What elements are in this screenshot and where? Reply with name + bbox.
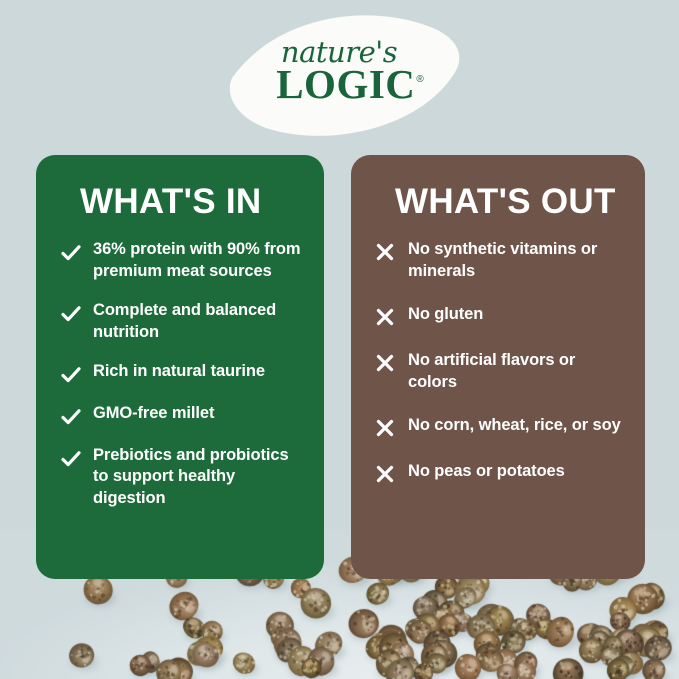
list-item-label: Prebiotics and probiotics to support hea… <box>93 445 306 511</box>
list-item: No corn, wheat, rice, or soy <box>368 415 627 440</box>
list-item: Prebiotics and probiotics to support hea… <box>53 445 306 511</box>
list-item-label: No corn, wheat, rice, or soy <box>408 415 621 437</box>
list-item: GMO-free millet <box>53 403 306 428</box>
whats-out-title: WHAT'S OUT <box>368 155 627 221</box>
check-icon <box>60 242 82 264</box>
list-item: No gluten <box>368 304 627 329</box>
list-item-label: Rich in natural taurine <box>93 361 265 383</box>
list-item: 36% protein with 90% from premium meat s… <box>53 239 306 283</box>
x-icon <box>375 418 397 440</box>
list-item-label: No gluten <box>408 304 483 326</box>
list-item: No artificial flavors or colors <box>368 350 627 394</box>
logo-block-word: LOGIC <box>276 61 415 107</box>
product-infographic: nature's LOGIC® WHAT'S IN 36% protein wi… <box>0 0 679 679</box>
x-icon <box>375 307 397 329</box>
list-item-label: 36% protein with 90% from premium meat s… <box>93 239 306 283</box>
x-icon <box>375 242 397 264</box>
brand-logo: nature's LOGIC® <box>218 8 468 148</box>
logo-text: nature's LOGIC® <box>218 38 468 105</box>
list-item-label: Complete and balanced nutrition <box>93 300 306 344</box>
registered-trademark-icon: ® <box>416 74 423 85</box>
x-icon <box>375 464 397 486</box>
list-item-label: No artificial flavors or colors <box>408 350 627 394</box>
x-icon <box>375 353 397 375</box>
list-item-label: GMO-free millet <box>93 403 214 425</box>
list-item-label: No synthetic vitamins or minerals <box>408 239 627 283</box>
whats-in-panel: WHAT'S IN 36% protein with 90% from prem… <box>36 155 324 579</box>
check-icon <box>60 406 82 428</box>
check-icon <box>60 364 82 386</box>
list-item-label: No peas or potatoes <box>408 461 565 483</box>
list-item: No synthetic vitamins or minerals <box>368 239 627 283</box>
list-item: Rich in natural taurine <box>53 361 306 386</box>
whats-in-title: WHAT'S IN <box>53 155 306 221</box>
logo-block-row: LOGIC® <box>232 64 468 105</box>
list-item: No peas or potatoes <box>368 461 627 486</box>
whats-out-list: No synthetic vitamins or mineralsNo glut… <box>368 221 627 486</box>
check-icon <box>60 303 82 325</box>
whats-out-panel: WHAT'S OUT No synthetic vitamins or mine… <box>351 155 645 579</box>
whats-in-list: 36% protein with 90% from premium meat s… <box>53 221 306 511</box>
check-icon <box>60 448 82 470</box>
list-item: Complete and balanced nutrition <box>53 300 306 344</box>
